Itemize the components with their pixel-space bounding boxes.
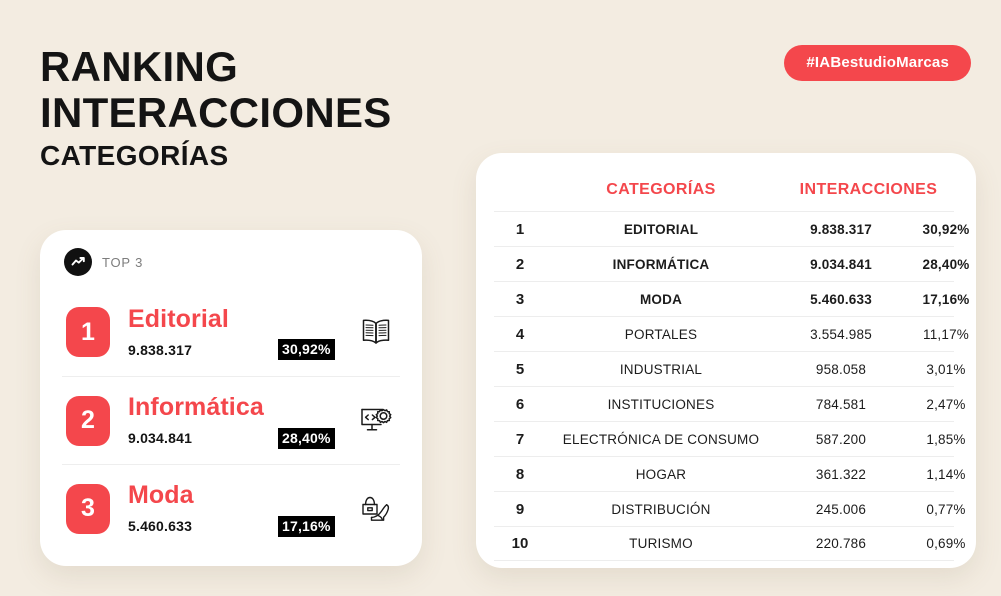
row-rank: 7 (494, 431, 546, 448)
row-percent: 28,40% (906, 257, 986, 272)
table-row[interactable]: 3 MODA 5.460.633 17,16% (494, 281, 954, 316)
row-rank: 8 (494, 466, 546, 483)
rank-badge: 3 (66, 484, 110, 534)
top3-item-body: Moda 5.460.633 17,16% (128, 481, 350, 536)
page-title: RANKING INTERACCIONES CATEGORÍAS (40, 44, 560, 176)
row-interactions: 9.034.841 (776, 257, 906, 272)
row-category: ELECTRÓNICA DE CONSUMO (546, 432, 776, 447)
row-percent: 30,92% (906, 222, 986, 237)
top3-item[interactable]: 3 Moda 5.460.633 17,16% (62, 464, 400, 552)
row-rank: 6 (494, 396, 546, 413)
handbag-heel-icon (356, 489, 396, 529)
row-category: TURISMO (546, 536, 776, 551)
column-header-interactions: INTERACCIONES (776, 181, 961, 199)
top3-item[interactable]: 1 Editorial 9.838.317 30,92% (62, 288, 400, 376)
row-category: DISTRIBUCIÓN (546, 502, 776, 517)
table-row[interactable]: 2 INFORMÁTICA 9.034.841 28,40% (494, 246, 954, 281)
rank-badge: 1 (66, 307, 110, 357)
top3-item[interactable]: 2 Informática 9.034.841 28,40% (62, 376, 400, 464)
row-category: HOGAR (546, 467, 776, 482)
row-percent: 2,47% (906, 397, 986, 412)
row-interactions: 9.838.317 (776, 222, 906, 237)
row-category: EDITORIAL (546, 222, 776, 237)
rank-badge: 2 (66, 396, 110, 446)
row-percent: 1,14% (906, 467, 986, 482)
row-interactions: 958.058 (776, 362, 906, 377)
top3-item-percent: 30,92% (278, 339, 335, 360)
row-percent: 17,16% (906, 292, 986, 307)
top3-item-value: 5.460.633 (128, 518, 278, 534)
table-header-row: CATEGORÍAS INTERACCIONES (494, 169, 954, 211)
top3-label: TOP 3 (102, 255, 143, 270)
title-line-2: INTERACCIONES (40, 90, 560, 136)
row-rank: 4 (494, 326, 546, 343)
row-interactions: 361.322 (776, 467, 906, 482)
top3-item-value: 9.034.841 (128, 430, 278, 446)
row-rank: 9 (494, 501, 546, 518)
row-percent: 1,85% (906, 432, 986, 447)
ranking-table-card: CATEGORÍAS INTERACCIONES 1 EDITORIAL 9.8… (476, 153, 976, 568)
row-category: PORTALES (546, 327, 776, 342)
top3-item-value: 9.838.317 (128, 342, 278, 358)
table-row[interactable]: 4 PORTALES 3.554.985 11,17% (494, 316, 954, 351)
row-rank: 10 (494, 535, 546, 552)
top3-item-body: Informática 9.034.841 28,40% (128, 393, 350, 448)
row-rank: 2 (494, 256, 546, 273)
row-rank: 1 (494, 221, 546, 238)
row-percent: 0,77% (906, 502, 986, 517)
hashtag-badge: #IABestudioMarcas (784, 45, 971, 81)
monitor-code-gear-icon (356, 401, 396, 441)
table-row[interactable]: 5 INDUSTRIAL 958.058 3,01% (494, 351, 954, 386)
trending-line-icon (64, 248, 92, 276)
row-category: INDUSTRIAL (546, 362, 776, 377)
row-interactions: 220.786 (776, 536, 906, 551)
top3-item-name: Editorial (128, 305, 350, 333)
top3-item-body: Editorial 9.838.317 30,92% (128, 305, 350, 360)
top3-item-metrics: 9.838.317 30,92% (128, 340, 350, 360)
top3-item-metrics: 9.034.841 28,40% (128, 428, 350, 448)
row-percent: 11,17% (906, 327, 986, 342)
row-rank: 5 (494, 361, 546, 378)
title-line-1: RANKING (40, 44, 560, 90)
row-interactions: 3.554.985 (776, 327, 906, 342)
row-interactions: 245.006 (776, 502, 906, 517)
row-category: MODA (546, 292, 776, 307)
top3-item-percent: 17,16% (278, 516, 335, 537)
top3-card: TOP 3 1 Editorial 9.838.317 30,92% (40, 230, 422, 566)
top3-item-metrics: 5.460.633 17,16% (128, 516, 350, 536)
table-row[interactable]: 1 EDITORIAL 9.838.317 30,92% (494, 211, 954, 246)
row-category: INFORMÁTICA (546, 257, 776, 272)
row-rank: 3 (494, 291, 546, 308)
top3-header: TOP 3 (62, 248, 400, 276)
table-row[interactable]: 7 ELECTRÓNICA DE CONSUMO 587.200 1,85% (494, 421, 954, 456)
open-book-icon (356, 312, 396, 352)
top3-item-name: Informática (128, 393, 350, 421)
row-interactions: 784.581 (776, 397, 906, 412)
top3-item-name: Moda (128, 481, 350, 509)
table-row[interactable]: 9 DISTRIBUCIÓN 245.006 0,77% (494, 491, 954, 526)
table-row[interactable]: 10 TURISMO 220.786 0,69% (494, 526, 954, 561)
row-interactions: 587.200 (776, 432, 906, 447)
row-percent: 0,69% (906, 536, 986, 551)
column-header-categories: CATEGORÍAS (546, 181, 776, 199)
table-row[interactable]: 6 INSTITUCIONES 784.581 2,47% (494, 386, 954, 421)
row-category: INSTITUCIONES (546, 397, 776, 412)
table-row[interactable]: 8 HOGAR 361.322 1,14% (494, 456, 954, 491)
row-interactions: 5.460.633 (776, 292, 906, 307)
row-percent: 3,01% (906, 362, 986, 377)
top3-item-percent: 28,40% (278, 428, 335, 449)
